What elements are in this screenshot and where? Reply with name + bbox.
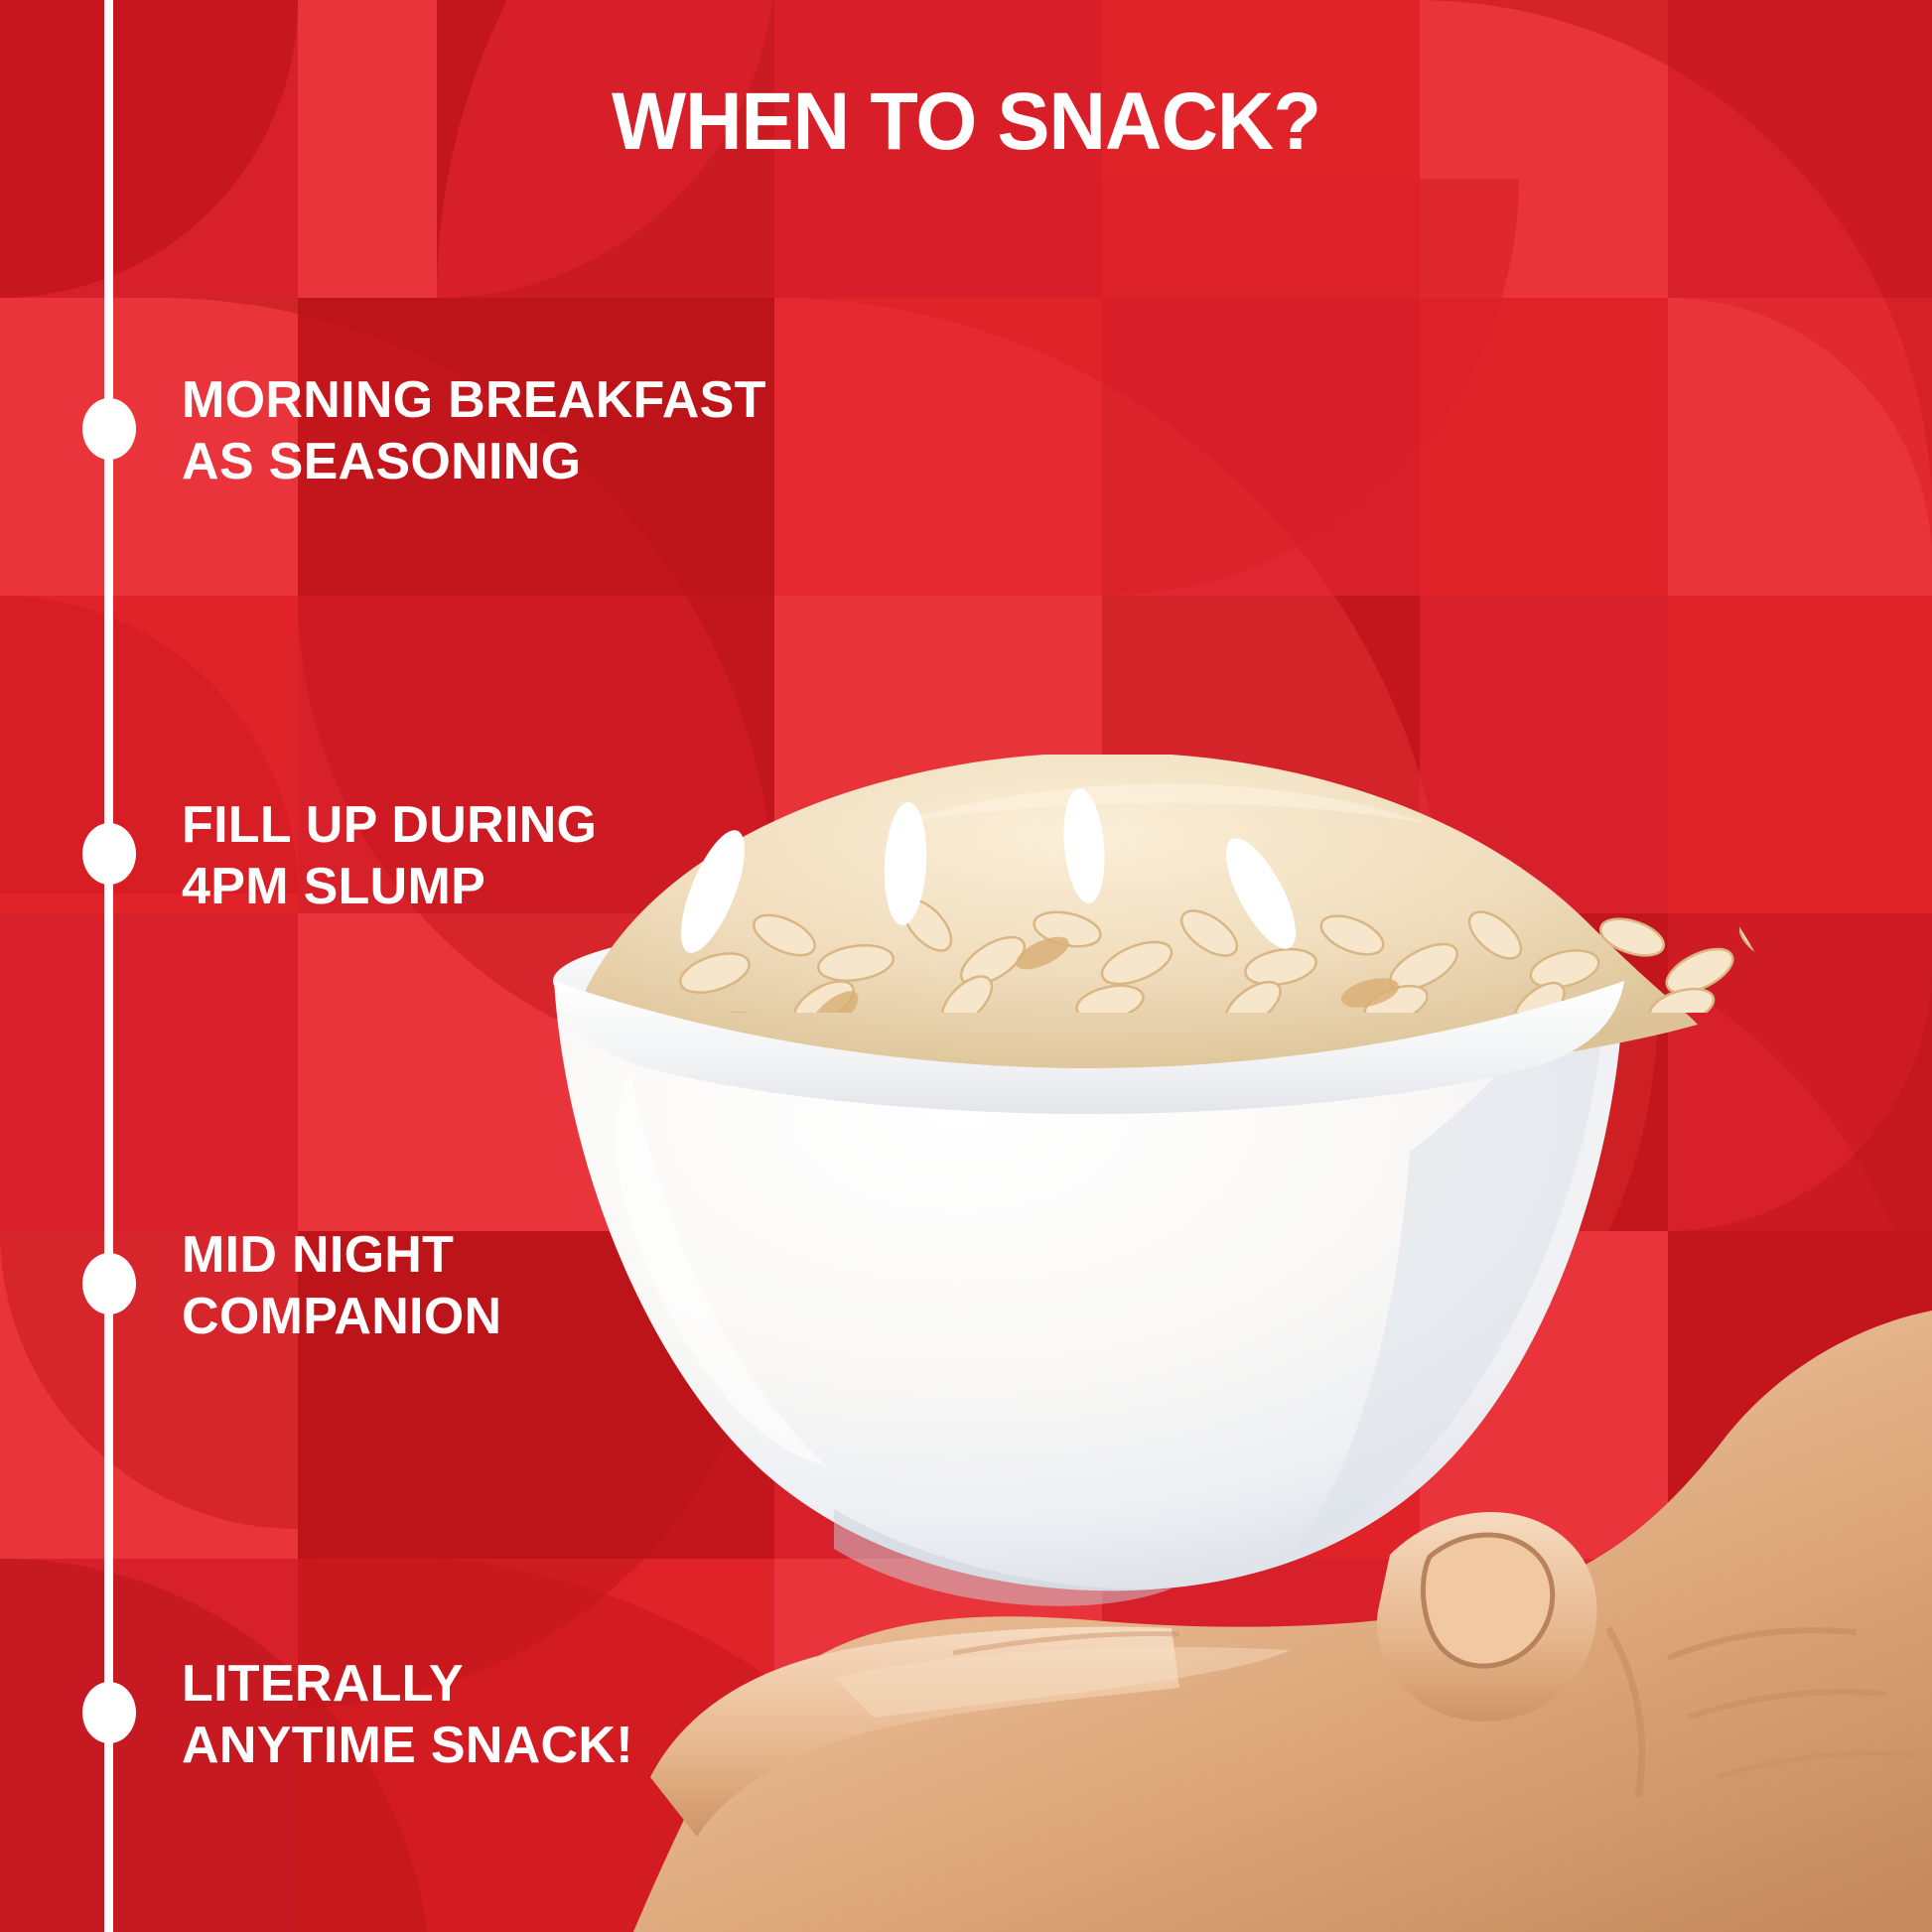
sparkle-dash-icon bbox=[882, 801, 929, 926]
timeline-item-line2: 4PM SLUMP bbox=[182, 856, 597, 917]
timeline-item-line1: FILL UP DURING bbox=[182, 794, 597, 856]
timeline-item-line1: MORNING BREAKFAST bbox=[182, 369, 766, 431]
page-title: WHEN TO SNACK? bbox=[29, 81, 1903, 163]
sparkle-dash-icon bbox=[1212, 829, 1309, 958]
timeline-item-morning-breakfast: MORNING BREAKFAST AS SEASONING bbox=[182, 369, 766, 492]
timeline-dot-4 bbox=[82, 1682, 136, 1743]
timeline-dot-2 bbox=[82, 823, 136, 885]
sparkle-dash-icon bbox=[668, 823, 758, 961]
timeline-item-line1: MID NIGHT bbox=[182, 1224, 501, 1286]
sparkle-group bbox=[635, 774, 1330, 1003]
poster-canvas: WHEN TO SNACK? MORNING BREAKFAST AS SEAS… bbox=[0, 0, 1932, 1932]
timeline-item-mid-night-companion: MID NIGHT COMPANION bbox=[182, 1224, 501, 1347]
timeline-dot-1 bbox=[82, 398, 136, 460]
timeline-item-line2: ANYTIME SNACK! bbox=[182, 1715, 633, 1776]
timeline-item-fill-up-4pm: FILL UP DURING 4PM SLUMP bbox=[182, 794, 597, 917]
timeline-item-literally-anytime: LITERALLY ANYTIME SNACK! bbox=[182, 1653, 633, 1776]
timeline-rail bbox=[104, 0, 113, 1932]
sparkle-dash-icon bbox=[1059, 786, 1109, 904]
timeline-item-line2: COMPANION bbox=[182, 1286, 501, 1347]
timeline-item-line1: LITERALLY bbox=[182, 1653, 633, 1715]
timeline-item-line2: AS SEASONING bbox=[182, 431, 766, 492]
timeline-dot-3 bbox=[82, 1253, 136, 1314]
